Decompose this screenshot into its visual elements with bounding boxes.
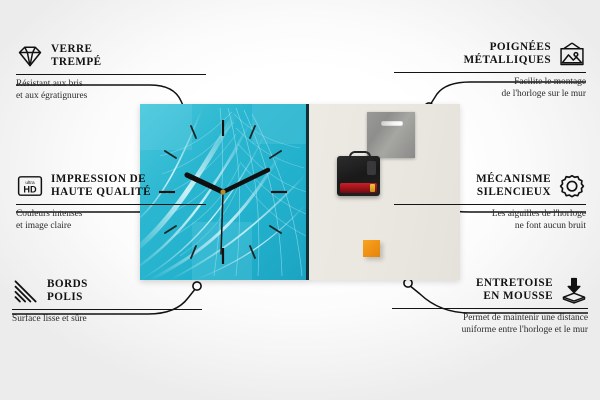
metal-hanger-plate <box>367 112 415 158</box>
feature-entretoise-en-mousse: ENTRETOISE EN MOUSSE Permet de maintenir… <box>392 276 588 336</box>
feature-divider <box>16 204 206 205</box>
feature-title: ENTRETOISE EN MOUSSE <box>476 277 553 302</box>
movement-setting-dial <box>367 161 376 175</box>
feature-title: BORDS POLIS <box>47 278 88 303</box>
feature-header: BORDS POLIS <box>12 277 202 305</box>
feature-subtitle: Permet de maintenir une distance uniform… <box>392 313 588 336</box>
svg-text:HD: HD <box>23 184 37 194</box>
feature-verre-trempe: VERRE TREMPÉ Résistant aux bris et aux é… <box>16 42 206 102</box>
battery <box>340 183 377 193</box>
feature-title: POIGNÉES MÉTALLIQUES <box>464 41 551 66</box>
feature-header: MÉCANISME SILENCIEUX <box>394 172 586 200</box>
feature-subtitle: Facilite le montage de l'horloge sur le … <box>394 77 586 100</box>
quartz-movement-box <box>337 156 380 196</box>
battery-terminal <box>370 184 375 192</box>
feature-title: IMPRESSION DE HAUTE QUALITÉ <box>51 173 151 198</box>
feature-subtitle: Les aiguilles de l'horloge ne font aucun… <box>394 209 586 232</box>
feature-poignees-metalliques: POIGNÉES MÉTALLIQUES Facilite le montage… <box>394 40 586 100</box>
movement-hanger-loop <box>349 151 371 161</box>
feature-divider <box>394 72 586 73</box>
feature-header: ENTRETOISE EN MOUSSE <box>392 276 588 304</box>
feature-header: VERRE TREMPÉ <box>16 42 206 70</box>
diamond-icon <box>16 42 44 70</box>
feature-title: VERRE TREMPÉ <box>51 43 102 68</box>
feature-subtitle: Surface lisse et sûre <box>12 314 202 325</box>
feature-impression-haute-qualite: ultra HD IMPRESSION DE HAUTE QUALITÉ Cou… <box>16 172 206 232</box>
feature-header: ultra HD IMPRESSION DE HAUTE QUALITÉ <box>16 172 206 200</box>
feature-divider <box>16 74 206 75</box>
feature-divider <box>12 309 202 310</box>
feature-header: POIGNÉES MÉTALLIQUES <box>394 40 586 68</box>
foam-spacer <box>363 240 380 257</box>
feature-bords-polis: BORDS POLIS Surface lisse et sûre <box>12 277 202 326</box>
feature-divider <box>394 204 586 205</box>
feature-subtitle: Résistant aux bris et aux égratignures <box>16 79 206 102</box>
polished-edge-icon <box>12 277 40 305</box>
feature-divider <box>392 308 588 309</box>
foam-spacer-arrow-icon <box>560 276 588 304</box>
gear-icon <box>558 172 586 200</box>
ultra-hd-badge-icon: ultra HD <box>16 172 44 200</box>
feature-subtitle: Couleurs intenses et image claire <box>16 209 206 232</box>
feature-title: MÉCANISME SILENCIEUX <box>476 173 551 198</box>
hanger-keyhole-slot <box>381 121 403 126</box>
feature-mecanisme-silencieux: MÉCANISME SILENCIEUX Les aiguilles de l'… <box>394 172 586 232</box>
infographic-canvas: VERRE TREMPÉ Résistant aux bris et aux é… <box>0 0 600 400</box>
wall-hanger-frame-icon <box>558 40 586 68</box>
